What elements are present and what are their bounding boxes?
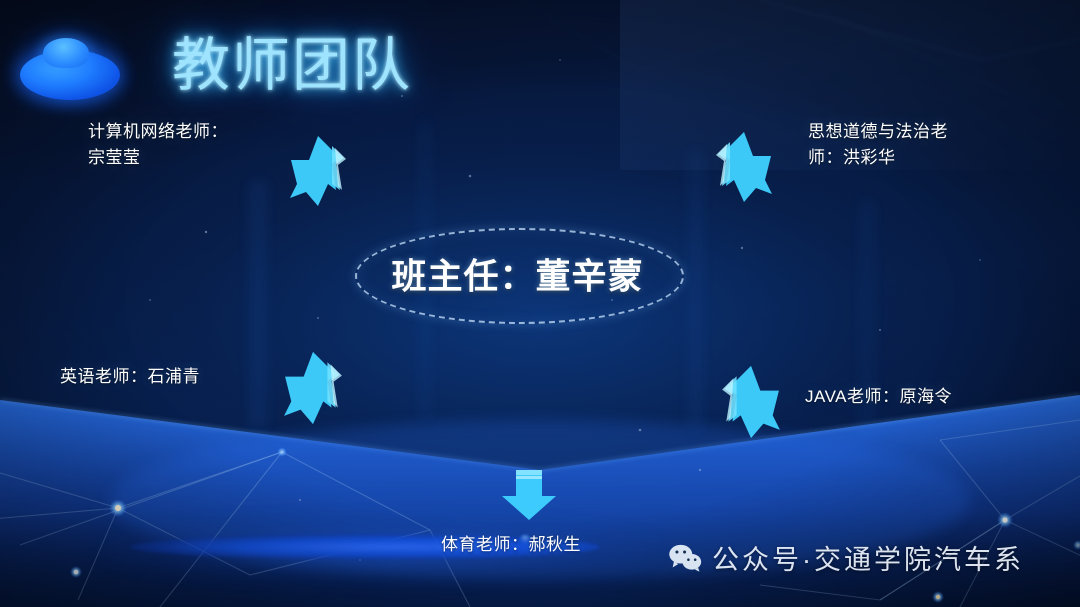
ufo-glow — [8, 18, 133, 108]
watermark-text: 公众号·交通学院汽车系 — [712, 538, 1024, 577]
page-title: 教师团队 — [172, 18, 412, 102]
wechat-icon — [668, 543, 702, 573]
arrow-up-right-icon — [718, 362, 782, 442]
label-english-teacher: 英语老师：石浦青 — [60, 364, 200, 390]
watermark: 公众号·交通学院汽车系 — [668, 538, 1024, 577]
network-nodes — [70, 447, 1080, 603]
class-advisor-block: 班主任：董辛蒙 — [355, 228, 680, 320]
label-java-teacher: JAVA老师：原海令 — [805, 384, 952, 410]
slide-canvas: 教师团队 — [0, 0, 1080, 607]
label-computer-network-teacher: 计算机网络老师： 宗莹莹 — [88, 119, 228, 171]
ufo-dome — [43, 38, 89, 68]
arrow-down-icon — [498, 468, 560, 522]
arrow-up-left-icon — [282, 348, 346, 428]
ufo-body — [20, 50, 120, 100]
label-ideology-law-teacher: 思想道德与法治老 师：洪彩华 — [808, 119, 948, 171]
ufo-icon — [8, 18, 133, 108]
arrow-up-left-icon — [288, 134, 350, 208]
label-class-advisor: 班主任：董辛蒙 — [355, 249, 680, 300]
label-pe-teacher: 体育老师：郝秋生 — [441, 532, 581, 558]
arrow-up-right-icon — [712, 130, 774, 206]
